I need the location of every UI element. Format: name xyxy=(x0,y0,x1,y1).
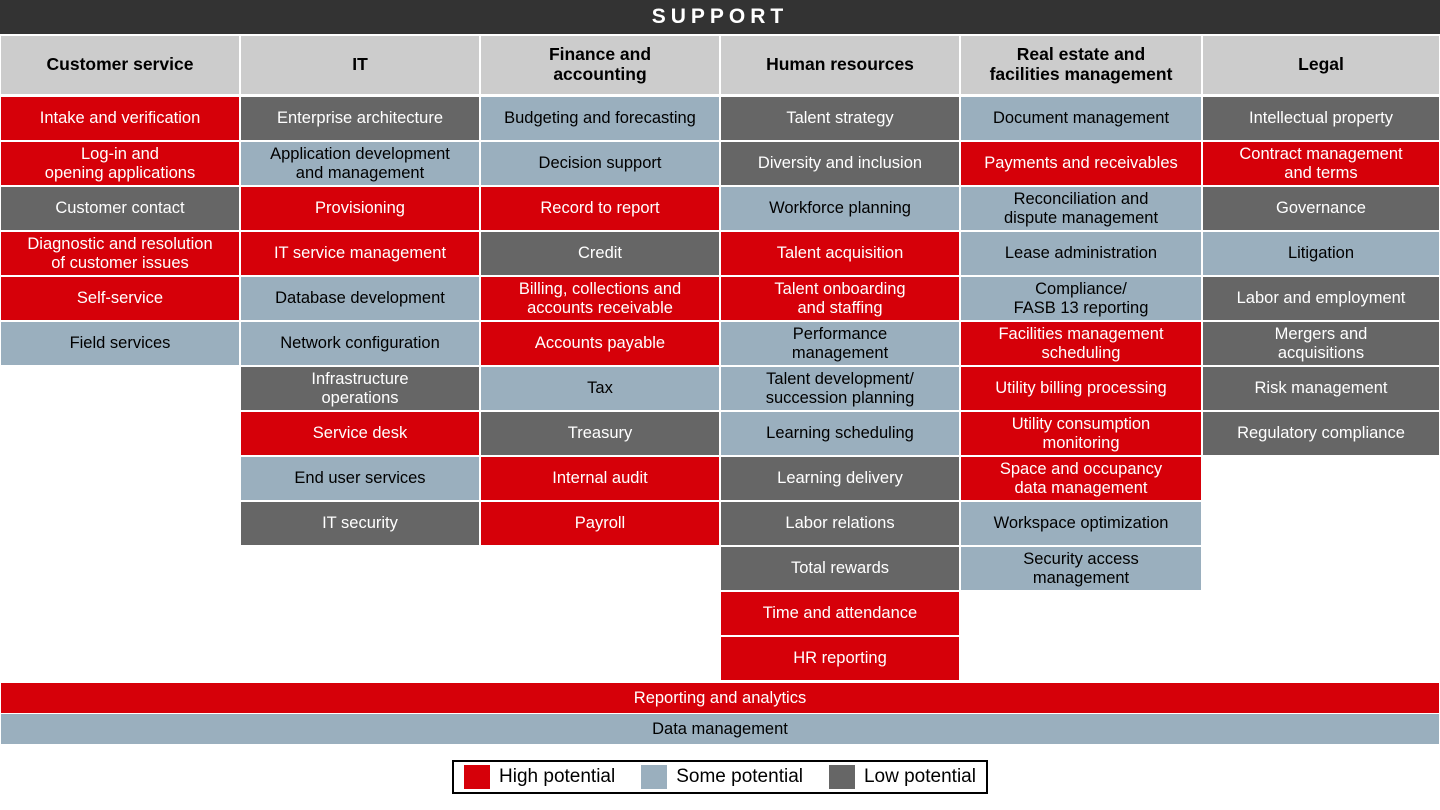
capability-cell[interactable]: Space and occupancydata management xyxy=(961,457,1201,500)
capability-cell[interactable]: Field services xyxy=(1,322,239,365)
capability-cell[interactable]: Service desk xyxy=(241,412,479,455)
capability-cell[interactable]: Talent development/succession planning xyxy=(721,367,959,410)
capability-cell[interactable]: Provisioning xyxy=(241,187,479,230)
capability-cell[interactable]: Document management xyxy=(961,97,1201,140)
legend: High potentialSome potentialLow potentia… xyxy=(452,760,988,794)
capability-cell[interactable]: Treasury xyxy=(481,412,719,455)
capability-cell[interactable]: Talent acquisition xyxy=(721,232,959,275)
capability-cell[interactable]: Customer contact xyxy=(1,187,239,230)
capability-cell[interactable]: Workspace optimization xyxy=(961,502,1201,545)
capability-cell[interactable]: Utility consumptionmonitoring xyxy=(961,412,1201,455)
column-legal: LegalIntellectual propertyContract manag… xyxy=(1202,34,1440,456)
capability-cell[interactable]: Enterprise architecture xyxy=(241,97,479,140)
capability-cell[interactable]: Infrastructureoperations xyxy=(241,367,479,410)
cross-cutting-bar[interactable]: Reporting and analytics xyxy=(1,683,1439,713)
capability-cell[interactable]: Mergers andacquisitions xyxy=(1203,322,1439,365)
legend-item: High potential xyxy=(464,765,615,789)
column-human-resources: Human resourcesTalent strategyDiversity … xyxy=(720,34,960,681)
capability-cell[interactable]: Application developmentand management xyxy=(241,142,479,185)
capability-cell[interactable]: Reconciliation anddispute management xyxy=(961,187,1201,230)
column-header: Finance andaccounting xyxy=(481,36,719,94)
capability-cell[interactable]: IT security xyxy=(241,502,479,545)
column-it: ITEnterprise architectureApplication dev… xyxy=(240,34,480,546)
legend-swatch-some-icon xyxy=(641,765,667,789)
capability-cell[interactable]: Log-in andopening applications xyxy=(1,142,239,185)
legend-label: Low potential xyxy=(864,766,976,788)
column-header: Real estate andfacilities management xyxy=(961,36,1201,94)
legend-item: Low potential xyxy=(829,765,976,789)
capability-cell[interactable]: Learning delivery xyxy=(721,457,959,500)
capability-cell[interactable]: Time and attendance xyxy=(721,592,959,635)
cross-cutting-bars: Reporting and analyticsData management xyxy=(0,683,1440,744)
column-real-estate-and-facilities-management: Real estate andfacilities managementDocu… xyxy=(960,34,1202,591)
column-customer-service: Customer serviceIntake and verificationL… xyxy=(0,34,240,366)
legend-item: Some potential xyxy=(641,765,803,789)
column-header: IT xyxy=(241,36,479,94)
page-title-bar: SUPPORT xyxy=(0,0,1440,34)
capability-cell[interactable]: Labor relations xyxy=(721,502,959,545)
capability-cell[interactable]: Facilities managementscheduling xyxy=(961,322,1201,365)
capability-cell[interactable]: Talent strategy xyxy=(721,97,959,140)
column-header: Human resources xyxy=(721,36,959,94)
capability-cell[interactable]: Payroll xyxy=(481,502,719,545)
capability-cell[interactable]: Decision support xyxy=(481,142,719,185)
legend-label: Some potential xyxy=(676,766,803,788)
capability-cell[interactable]: Performancemanagement xyxy=(721,322,959,365)
page-title: SUPPORT xyxy=(652,5,789,29)
capability-cell[interactable]: Learning scheduling xyxy=(721,412,959,455)
capability-cell[interactable]: Intake and verification xyxy=(1,97,239,140)
column-header: Legal xyxy=(1203,36,1439,94)
legend-swatch-high-icon xyxy=(464,765,490,789)
legend-container: High potentialSome potentialLow potentia… xyxy=(0,760,1440,794)
column-header: Customer service xyxy=(1,36,239,94)
capability-cell[interactable]: Self-service xyxy=(1,277,239,320)
capability-cell[interactable]: IT service management xyxy=(241,232,479,275)
capability-cell[interactable]: Workforce planning xyxy=(721,187,959,230)
capability-cell[interactable]: Intellectual property xyxy=(1203,97,1439,140)
support-capability-matrix: SUPPORT Customer serviceIntake and verif… xyxy=(0,0,1440,810)
capability-cell[interactable]: End user services xyxy=(241,457,479,500)
capability-cell[interactable]: Network configuration xyxy=(241,322,479,365)
capability-cell[interactable]: Accounts payable xyxy=(481,322,719,365)
capability-cell[interactable]: Diversity and inclusion xyxy=(721,142,959,185)
capability-cell[interactable]: Litigation xyxy=(1203,232,1439,275)
capability-cell[interactable]: Talent onboardingand staffing xyxy=(721,277,959,320)
capability-grid: Customer serviceIntake and verificationL… xyxy=(0,34,1440,681)
capability-cell[interactable]: HR reporting xyxy=(721,637,959,680)
capability-cell[interactable]: Diagnostic and resolutionof customer iss… xyxy=(1,232,239,275)
capability-cell[interactable]: Contract managementand terms xyxy=(1203,142,1439,185)
capability-cell[interactable]: Budgeting and forecasting xyxy=(481,97,719,140)
capability-cell[interactable]: Risk management xyxy=(1203,367,1439,410)
capability-cell[interactable]: Lease administration xyxy=(961,232,1201,275)
capability-cell[interactable]: Total rewards xyxy=(721,547,959,590)
capability-cell[interactable]: Billing, collections andaccounts receiva… xyxy=(481,277,719,320)
legend-label: High potential xyxy=(499,766,615,788)
capability-cell[interactable]: Security accessmanagement xyxy=(961,547,1201,590)
capability-cell[interactable]: Database development xyxy=(241,277,479,320)
capability-cell[interactable]: Utility billing processing xyxy=(961,367,1201,410)
capability-cell[interactable]: Payments and receivables xyxy=(961,142,1201,185)
column-finance-and-accounting: Finance andaccountingBudgeting and forec… xyxy=(480,34,720,546)
cross-cutting-bar[interactable]: Data management xyxy=(1,714,1439,744)
legend-swatch-low-icon xyxy=(829,765,855,789)
capability-cell[interactable]: Compliance/FASB 13 reporting xyxy=(961,277,1201,320)
capability-cell[interactable]: Record to report xyxy=(481,187,719,230)
capability-cell[interactable]: Governance xyxy=(1203,187,1439,230)
capability-cell[interactable]: Regulatory compliance xyxy=(1203,412,1439,455)
capability-cell[interactable]: Labor and employment xyxy=(1203,277,1439,320)
capability-cell[interactable]: Credit xyxy=(481,232,719,275)
capability-cell[interactable]: Internal audit xyxy=(481,457,719,500)
capability-cell[interactable]: Tax xyxy=(481,367,719,410)
